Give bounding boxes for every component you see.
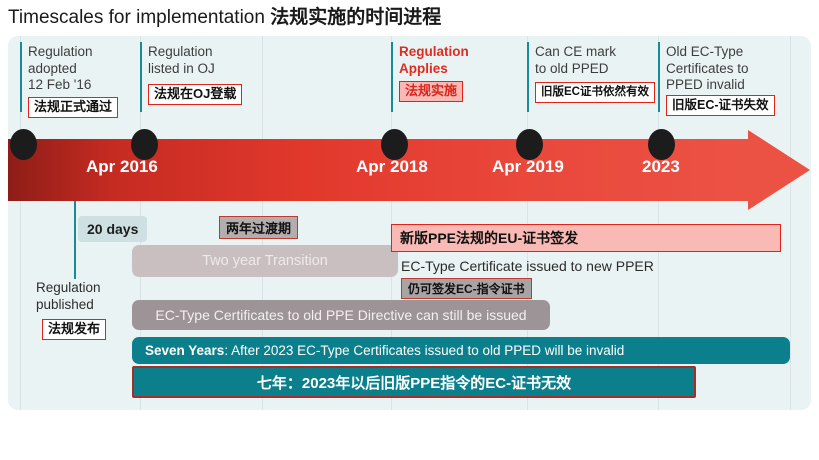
column-tick-1 bbox=[20, 42, 22, 112]
milestone-line: PPED invalid bbox=[666, 77, 775, 94]
milestone-cn-box: 法规实施 bbox=[399, 81, 463, 102]
milestone-line: adopted bbox=[28, 61, 118, 78]
gridline-7 bbox=[790, 36, 791, 410]
milestone-dot[interactable] bbox=[648, 129, 675, 160]
page-title: Timescales for implementation 法规实施的时间进程 bbox=[8, 2, 808, 32]
seven-years-rest: : After 2023 EC-Type Certificates issued… bbox=[224, 343, 624, 358]
milestone-column-listed-in-oj[interactable]: Regulation listed in OJ 法规在OJ登载 bbox=[148, 44, 242, 105]
milestone-line: Applies bbox=[399, 61, 469, 78]
milestone-dot[interactable] bbox=[516, 129, 543, 160]
arrow-head bbox=[748, 130, 810, 210]
milestone-dot[interactable] bbox=[10, 129, 37, 160]
milestone-line: Regulation bbox=[28, 44, 118, 61]
twenty-days-badge: 20 days bbox=[78, 216, 147, 242]
column-tick-3 bbox=[391, 42, 393, 112]
milestone-line: Regulation bbox=[148, 44, 242, 61]
milestone-column-regulation-adopted[interactable]: Regulation adopted 12 Feb '16 法规正式通过 bbox=[28, 44, 118, 118]
milestone-dot[interactable] bbox=[131, 129, 158, 160]
milestone-column-can-ce-mark[interactable]: Can CE mark to old PPED 旧版EC证书依然有效 bbox=[535, 44, 655, 103]
new-pper-note: EC-Type Certificate issued to new PPER bbox=[401, 258, 654, 274]
milestone-cn-box: 旧版EC-证书失效 bbox=[666, 95, 775, 116]
column-tick-4 bbox=[527, 42, 529, 112]
two-year-transition-bar: Two year Transition bbox=[132, 245, 398, 277]
milestone-line: Old EC-Type bbox=[666, 44, 775, 61]
two-year-transition-cn-label: 两年过渡期 bbox=[219, 216, 298, 239]
published-connector-line bbox=[74, 201, 76, 279]
still-issue-cn-label: 仍可签发EC-指令证书 bbox=[401, 278, 532, 299]
eu-certificate-cn-label: 新版PPE法规的EU-证书签发 bbox=[391, 224, 781, 252]
column-tick-2 bbox=[140, 42, 142, 112]
column-tick-5 bbox=[658, 42, 660, 112]
old-ppe-directive-bar: EC-Type Certificates to old PPE Directiv… bbox=[132, 300, 550, 330]
milestone-line: to old PPED bbox=[535, 61, 655, 78]
milestone-cn-box: 法规正式通过 bbox=[28, 97, 118, 118]
seven-years-cn-bar: 七年：2023年以后旧版PPE指令的EC-证书无效 bbox=[132, 366, 696, 398]
milestone-column-regulation-applies[interactable]: Regulation Applies 法规实施 bbox=[399, 44, 469, 102]
seven-years-label: Seven Years bbox=[145, 343, 224, 358]
milestone-dot[interactable] bbox=[381, 129, 408, 160]
regulation-published-line2: published bbox=[36, 296, 94, 313]
milestone-line: Certificates to bbox=[666, 61, 775, 78]
milestone-column-old-certificates-invalid[interactable]: Old EC-Type Certificates to PPED invalid… bbox=[666, 44, 775, 116]
page-title-en: Timescales for implementation bbox=[8, 7, 270, 28]
milestone-cn-box: 法规在OJ登载 bbox=[148, 84, 242, 105]
milestone-line: Regulation bbox=[399, 44, 469, 61]
timeline-date-apr-2018: Apr 2018 bbox=[356, 157, 428, 177]
timeline-arrow: Apr 2016 Apr 2018 Apr 2019 2023 bbox=[8, 139, 811, 201]
timeline-canvas: Regulation adopted 12 Feb '16 法规正式通过 Reg… bbox=[8, 36, 811, 410]
milestone-line: 12 Feb '16 bbox=[28, 77, 118, 94]
regulation-published-cn-box: 法规发布 bbox=[42, 319, 106, 340]
milestone-line: listed in OJ bbox=[148, 61, 242, 78]
timeline-date-apr-2016: Apr 2016 bbox=[86, 157, 158, 177]
regulation-published-line1: Regulation bbox=[36, 279, 101, 296]
timeline-date-2023: 2023 bbox=[642, 157, 680, 177]
page-title-cn: 法规实施的时间进程 bbox=[270, 7, 441, 28]
timeline-date-apr-2019: Apr 2019 bbox=[492, 157, 564, 177]
milestone-cn-box: 旧版EC证书依然有效 bbox=[535, 82, 655, 103]
seven-years-bar: Seven Years: After 2023 EC-Type Certific… bbox=[132, 337, 790, 364]
milestone-line: Can CE mark bbox=[535, 44, 655, 61]
